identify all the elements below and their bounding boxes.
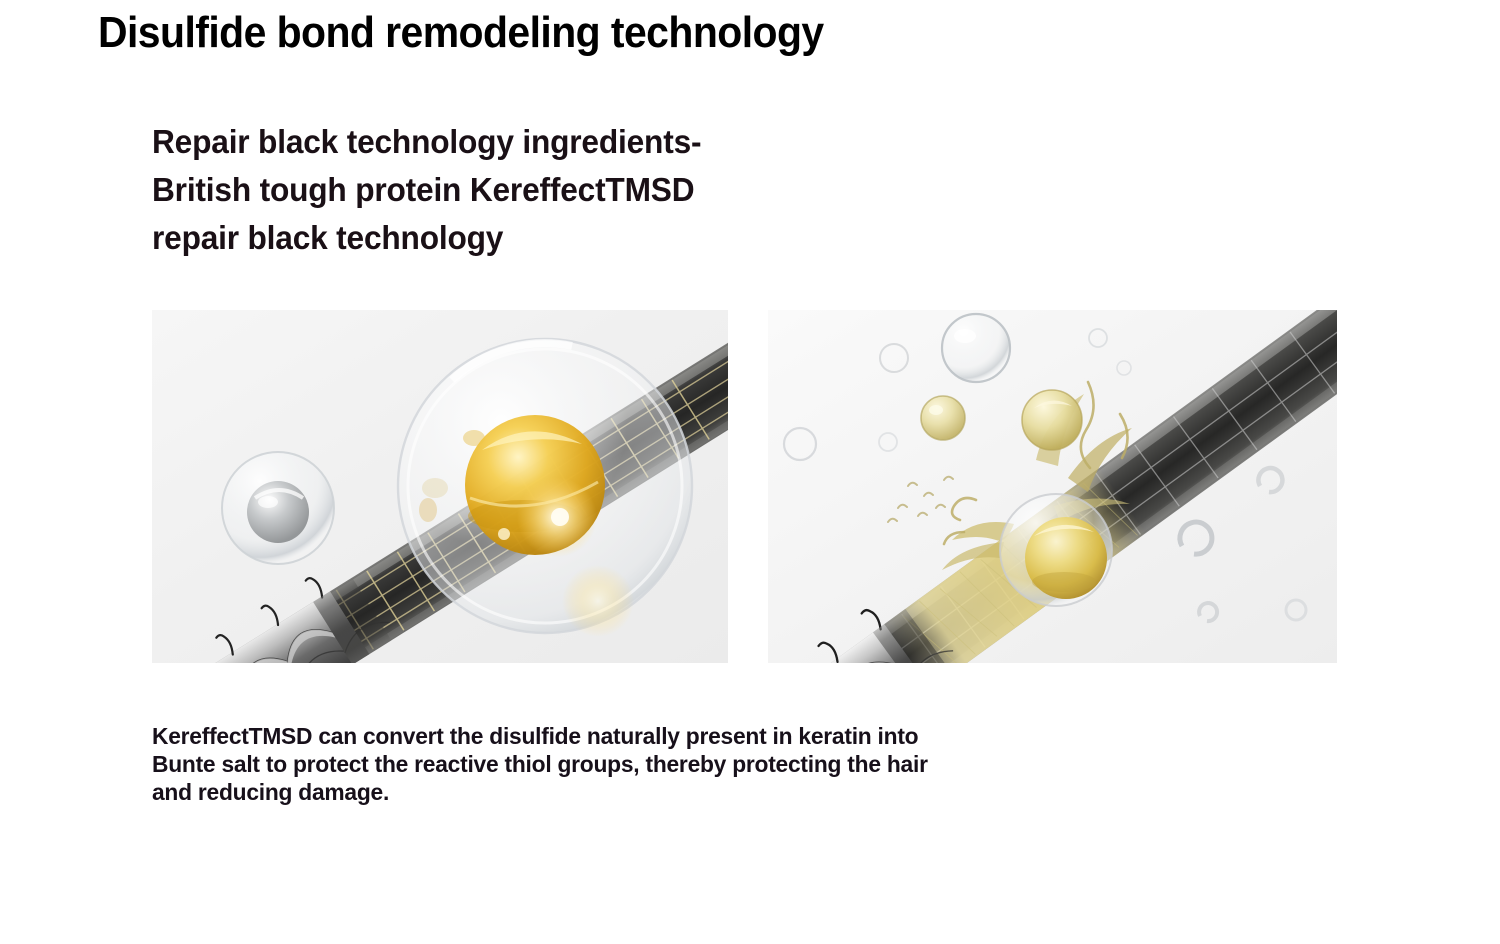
subheading-line-3: repair black technology (152, 214, 701, 262)
hair-with-oil-bubble-illustration (152, 310, 728, 663)
body-line-1: KereffectTMSD can convert the disulfide … (152, 722, 928, 750)
figure-oil-droplet-absorbing-into-hair (768, 310, 1337, 663)
figure-hair-with-oil-bubble (152, 310, 728, 663)
body-line-2: Bunte salt to protect the reactive thiol… (152, 750, 928, 778)
body-line-3: and reducing damage. (152, 778, 928, 806)
oil-absorption-illustration (768, 310, 1337, 663)
subheading-line-2: British tough protein KereffectTMSD (152, 166, 701, 214)
small-bubble (222, 452, 334, 564)
bubble-warm-glow (562, 565, 634, 637)
specular-glow (551, 508, 569, 526)
subheading-line-1: Repair black technology ingredients- (152, 118, 701, 166)
subheading: Repair black technology ingredients- Bri… (152, 118, 701, 262)
body-paragraph: KereffectTMSD can convert the disulfide … (152, 722, 928, 806)
page-title: Disulfide bond remodeling technology (98, 8, 824, 59)
